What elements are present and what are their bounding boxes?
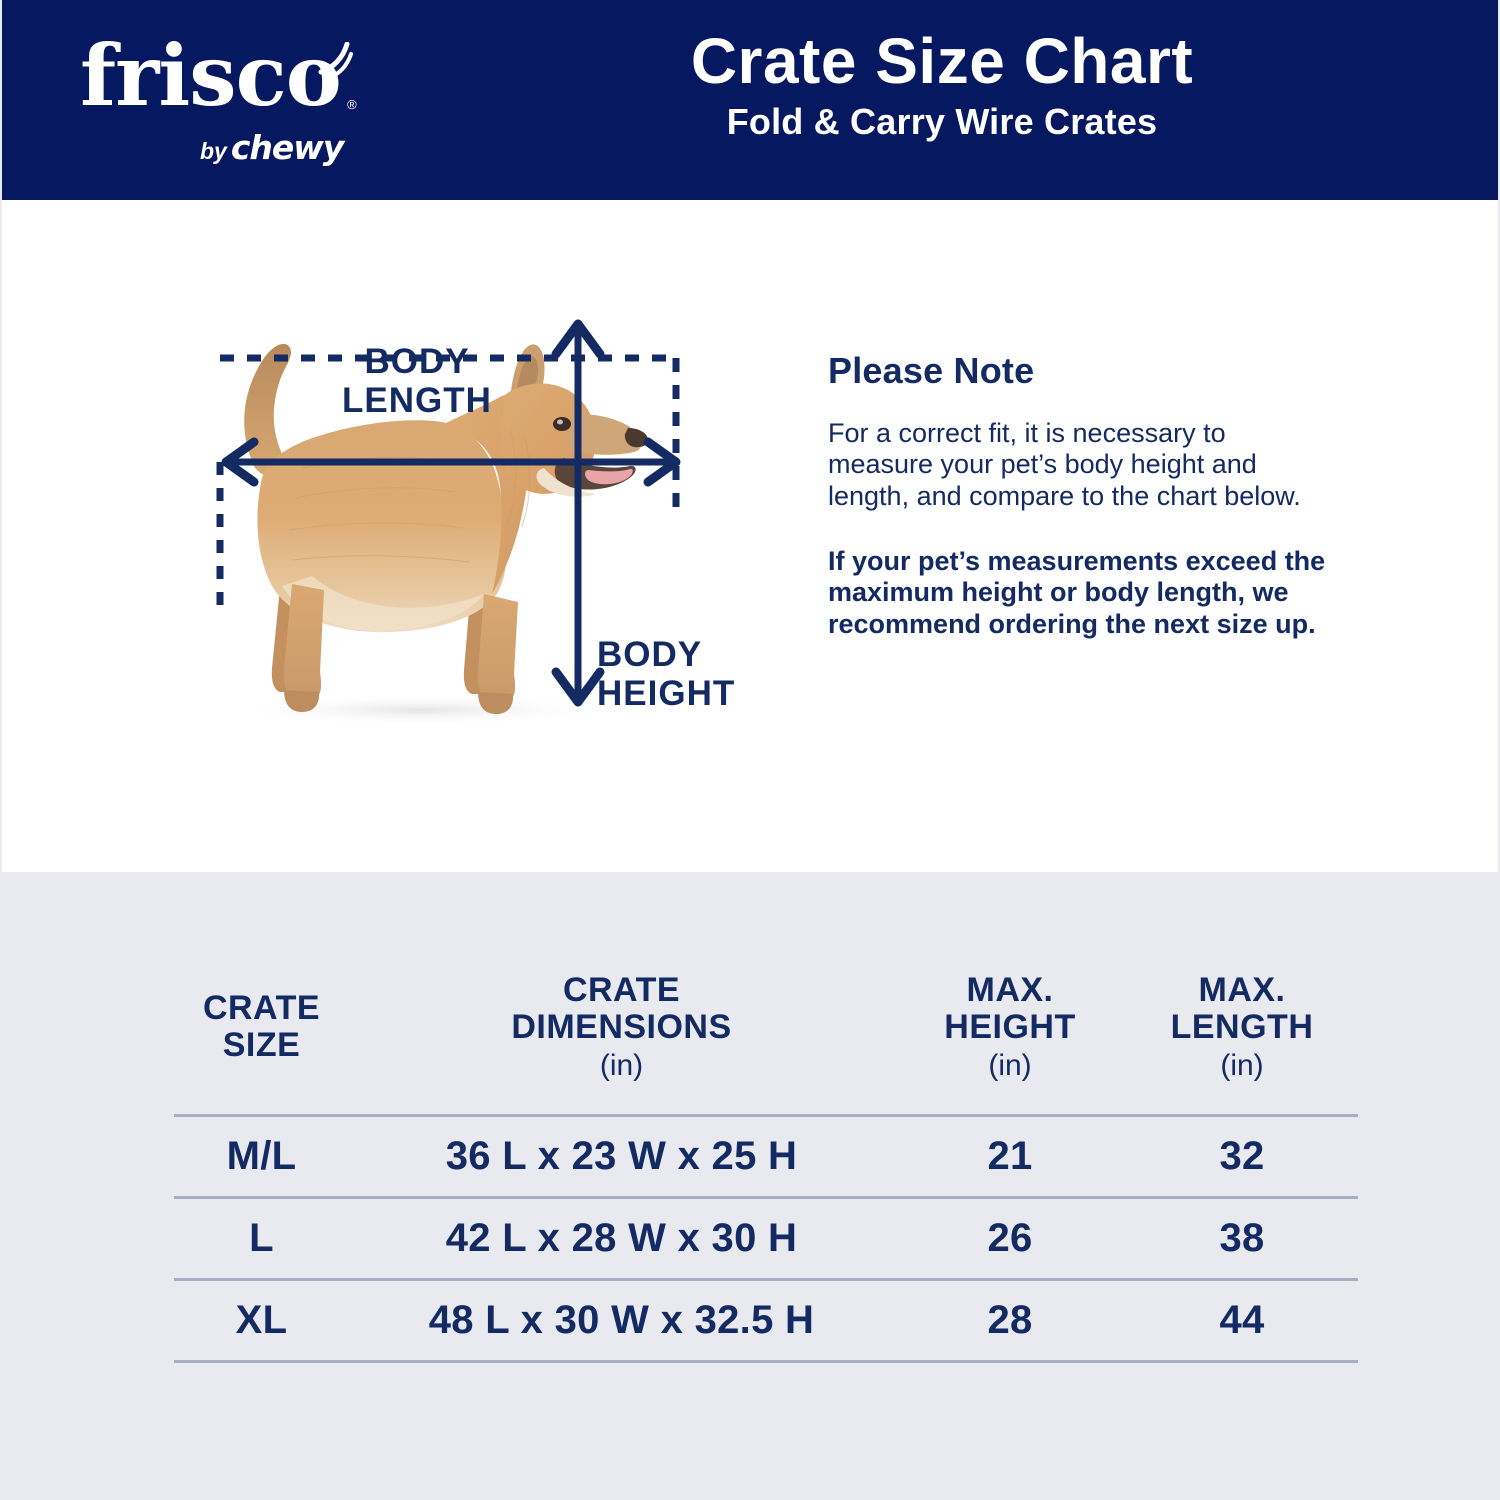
- table-header-row: CRATE SIZE CRATE DIMENSIONS (in) MAX. HE…: [174, 972, 1358, 1115]
- body-length-label-line2: LENGTH: [317, 381, 517, 420]
- measurement-section: BODY LENGTH BODY HEIGHT Please Note For …: [2, 200, 1500, 872]
- cell-crate-size: XL: [174, 1279, 349, 1361]
- cell-max-length: 32: [1126, 1115, 1358, 1197]
- body-height-label: BODY HEIGHT: [597, 635, 807, 713]
- column-header-max-length-line2: LENGTH: [1171, 1008, 1314, 1046]
- frisco-by-chewy-logo: frisco ® bychewy: [80, 36, 400, 166]
- table-header: CRATE SIZE CRATE DIMENSIONS (in) MAX. HE…: [174, 972, 1358, 1115]
- cell-crate-size: M/L: [174, 1115, 349, 1197]
- size-table-section: CRATE SIZE CRATE DIMENSIONS (in) MAX. HE…: [2, 872, 1500, 1500]
- crate-size-table: CRATE SIZE CRATE DIMENSIONS (in) MAX. HE…: [174, 972, 1358, 1363]
- column-header-crate-dimensions-line1: CRATE: [563, 971, 680, 1009]
- column-header-crate-size: CRATE SIZE: [174, 972, 349, 1115]
- body-length-label-line1: BODY: [317, 342, 517, 381]
- cell-max-length: 44: [1126, 1279, 1358, 1361]
- column-header-max-height-unit: (in): [894, 1049, 1126, 1082]
- cell-crate-dimensions: 36 L x 23 W x 25 H: [349, 1115, 894, 1197]
- please-note-block: Please Note For a correct fit, it is nec…: [828, 350, 1368, 640]
- crate-size-chart-infographic: frisco ® bychewy Crate Size Chart Fold &…: [0, 0, 1500, 1500]
- table-row: L 42 L x 28 W x 30 H 26 38: [174, 1197, 1358, 1279]
- column-header-max-length: MAX. LENGTH (in): [1126, 972, 1358, 1115]
- table-row: XL 48 L x 30 W x 32.5 H 28 44: [174, 1279, 1358, 1361]
- column-header-max-height-line1: MAX.: [967, 971, 1054, 1009]
- column-header-crate-dimensions-line2: DIMENSIONS: [511, 1008, 731, 1046]
- by-label: by: [200, 138, 227, 164]
- column-header-crate-dimensions-unit: (in): [349, 1049, 894, 1082]
- cell-crate-dimensions: 48 L x 30 W x 32.5 H: [349, 1279, 894, 1361]
- body-length-label: BODY LENGTH: [317, 342, 517, 420]
- cell-max-height: 21: [894, 1115, 1126, 1197]
- cell-crate-size: L: [174, 1197, 349, 1279]
- swoosh-icon: [317, 42, 361, 86]
- header-title-block: Crate Size Chart Fold & Carry Wire Crate…: [442, 28, 1442, 143]
- column-header-crate-size-line2: SIZE: [223, 1026, 301, 1064]
- column-header-max-height: MAX. HEIGHT (in): [894, 972, 1126, 1115]
- body-height-label-line2: HEIGHT: [597, 674, 807, 713]
- please-note-heading: Please Note: [828, 350, 1368, 392]
- cell-max-height: 28: [894, 1279, 1126, 1361]
- frisco-brand-text: frisco: [80, 36, 341, 116]
- frisco-wordmark: frisco ®: [80, 36, 341, 116]
- please-note-paragraph-1: For a correct fit, it is necessary to me…: [828, 418, 1308, 512]
- cell-max-height: 26: [894, 1197, 1126, 1279]
- column-header-max-height-line2: HEIGHT: [944, 1008, 1075, 1046]
- by-chewy-lockup: bychewy: [200, 128, 343, 167]
- table-body: M/L 36 L x 23 W x 25 H 21 32 L 42 L x 28…: [174, 1115, 1358, 1361]
- page-subtitle: Fold & Carry Wire Crates: [442, 101, 1442, 143]
- cell-crate-dimensions: 42 L x 28 W x 30 H: [349, 1197, 894, 1279]
- dog-measurement-diagram: BODY LENGTH BODY HEIGHT: [182, 310, 802, 730]
- column-header-crate-dimensions: CRATE DIMENSIONS (in): [349, 972, 894, 1115]
- registered-trademark-icon: ®: [347, 97, 357, 112]
- chewy-brand-text: chewy: [231, 128, 343, 167]
- column-header-max-length-line1: MAX.: [1199, 971, 1286, 1009]
- column-header-crate-size-line1: CRATE: [203, 989, 320, 1027]
- body-height-label-line1: BODY: [597, 635, 807, 674]
- header-banner: frisco ® bychewy Crate Size Chart Fold &…: [2, 0, 1500, 200]
- column-header-max-length-unit: (in): [1126, 1049, 1358, 1082]
- table-row: M/L 36 L x 23 W x 25 H 21 32: [174, 1115, 1358, 1197]
- page-title: Crate Size Chart: [442, 28, 1442, 95]
- cell-max-length: 38: [1126, 1197, 1358, 1279]
- please-note-paragraph-2: If your pet’s measurements exceed the ma…: [828, 546, 1348, 640]
